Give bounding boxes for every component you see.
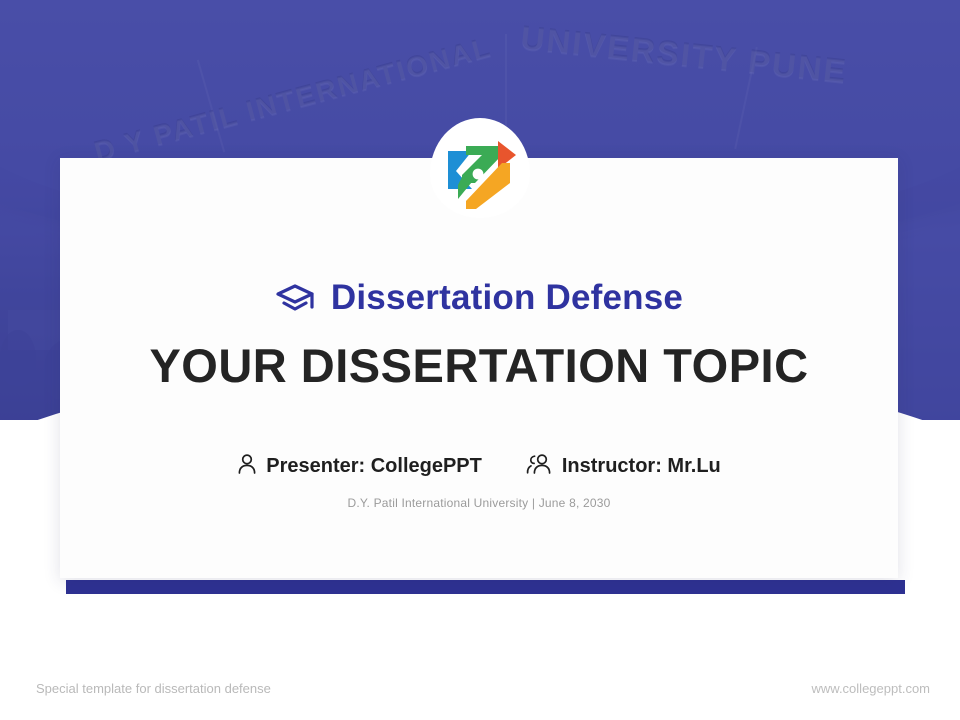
collegeppt-logo xyxy=(430,118,530,218)
person-icon xyxy=(237,453,257,480)
title-card: Dissertation Defense YOUR DISSERTATION T… xyxy=(60,158,898,578)
presenter-item: Presenter: CollegePPT xyxy=(237,453,482,480)
instructor-label: Instructor: Mr.Lu xyxy=(562,455,721,478)
footer-website[interactable]: www.collegeppt.com xyxy=(812,681,931,696)
graduation-cap-icon xyxy=(275,281,317,315)
card-accent-bar xyxy=(66,580,905,594)
instructor-item: Instructor: Mr.Lu xyxy=(526,453,721,480)
page-title: YOUR DISSERTATION TOPIC xyxy=(60,338,898,393)
people-icon xyxy=(526,453,553,480)
presenter-label: Presenter: CollegePPT xyxy=(266,455,482,478)
kicker-label: Dissertation Defense xyxy=(331,278,683,318)
kicker-row: Dissertation Defense xyxy=(60,278,898,318)
collegeppt-pin-logo-icon xyxy=(442,125,518,211)
card-meta: D.Y. Patil International University | Ju… xyxy=(60,496,898,510)
people-row: Presenter: CollegePPT Instructor: Mr.Lu xyxy=(60,453,898,480)
footer-note: Special template for dissertation defens… xyxy=(36,681,271,696)
